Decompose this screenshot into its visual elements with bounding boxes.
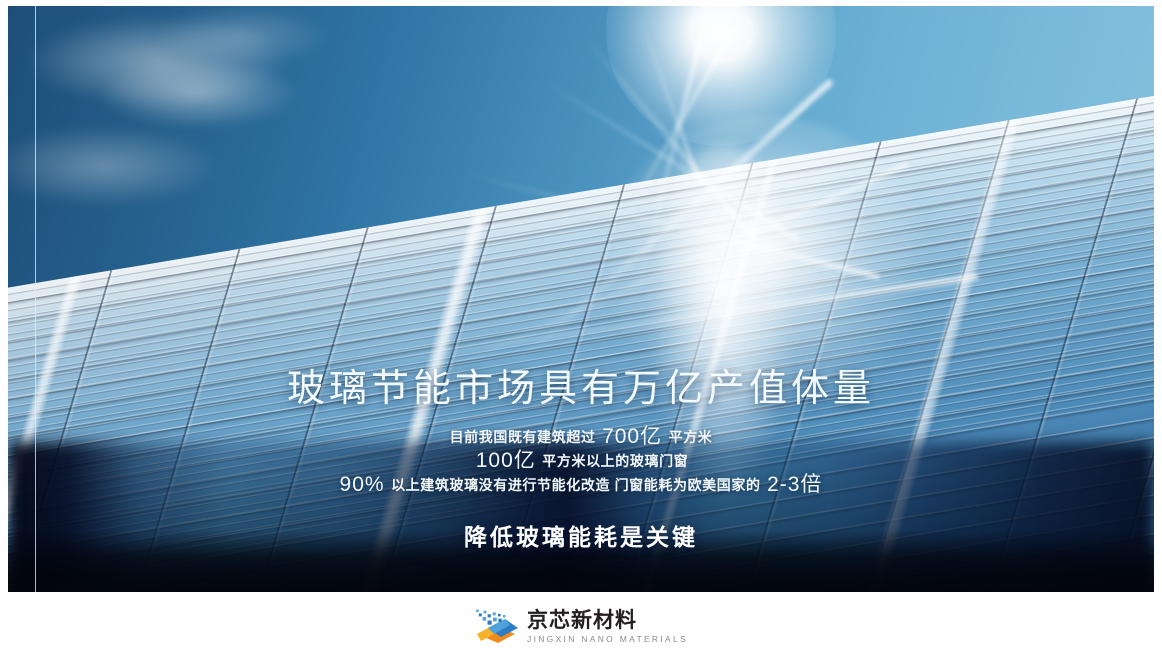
cloud-wisp-2 xyxy=(98,58,298,128)
footer-bar: 京芯新材料 JINGXIN NANO MATERIALS xyxy=(0,592,1162,662)
jingxin-logo-mark-icon xyxy=(474,608,518,646)
brand-name-cn: 京芯新材料 xyxy=(527,610,688,631)
brand-logo: 京芯新材料 JINGXIN NANO MATERIALS xyxy=(474,608,688,646)
slide-canvas: 玻璃节能市场具有万亿产值体量 目前我国既有建筑超过 700亿 平方米 100亿 … xyxy=(0,0,1162,662)
hero-photo-glass-skyscraper xyxy=(8,6,1154,592)
cloud-wisp-3 xyxy=(8,126,218,206)
bottom-vignette xyxy=(8,530,1154,592)
brand-name-en: JINGXIN NANO MATERIALS xyxy=(527,635,688,644)
cloud-wisp-4 xyxy=(158,6,328,66)
left-guide-line xyxy=(35,6,36,592)
brand-logo-text: 京芯新材料 JINGXIN NANO MATERIALS xyxy=(527,610,688,644)
